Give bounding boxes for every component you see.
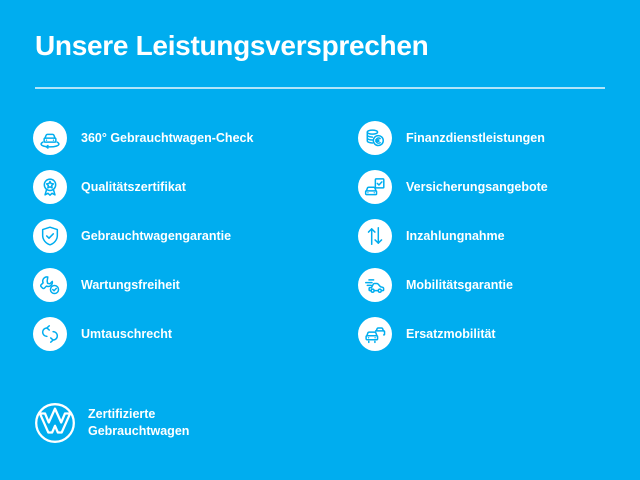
feature-label: Versicherungsangebote [406,180,548,195]
exchange-arrows-icon [33,317,67,351]
brand-line-2: Gebrauchtwagen [88,423,189,440]
feature-label: Gebrauchtwagengarantie [81,229,231,244]
two-cars-icon [358,317,392,351]
car-360-check-icon [33,121,67,155]
feature-label: Ersatzmobilität [406,327,496,342]
feature-label: Qualitätszertifikat [81,180,186,195]
feature-column-right: Finanzdienstleistungen Versicherungsange… [358,121,640,351]
arrows-up-down-icon [358,219,392,253]
feature-item-insurance-offers[interactable]: Versicherungsangebote [358,170,640,204]
feature-item-used-car-warranty[interactable]: Gebrauchtwagengarantie [33,219,333,253]
brand-line-1: Zertifizierte [88,406,189,423]
feature-label: Umtauschrecht [81,327,172,342]
page-title: Unsere Leistungsversprechen [35,30,605,62]
feature-label: Mobilitätsgarantie [406,278,513,293]
feature-item-quality-certificate[interactable]: Qualitätszertifikat [33,170,333,204]
quality-seal-icon [33,170,67,204]
feature-item-mobility-guarantee[interactable]: Mobilitätsgarantie [358,268,640,302]
coins-euro-icon [358,121,392,155]
feature-item-360-check[interactable]: 360° Gebrauchtwagen-Check [33,121,333,155]
feature-columns: 360° Gebrauchtwagen-Check Qualitätszerti… [0,121,640,351]
volkswagen-logo [34,402,76,444]
feature-column-left: 360° Gebrauchtwagen-Check Qualitätszerti… [33,121,333,351]
feature-item-replacement-mobility[interactable]: Ersatzmobilität [358,317,640,351]
title-divider [35,87,605,89]
feature-item-financial-services[interactable]: Finanzdienstleistungen [358,121,640,155]
feature-label: Finanzdienstleistungen [406,131,545,146]
promise-panel: Unsere Leistungsversprechen 360° Gebrauc… [0,0,640,480]
car-document-check-icon [358,170,392,204]
brand-lockup: Zertifizierte Gebrauchtwagen [34,402,189,444]
feature-item-trade-in[interactable]: Inzahlungnahme [358,219,640,253]
feature-item-maintenance-free[interactable]: Wartungsfreiheit [33,268,333,302]
car-motion-icon [358,268,392,302]
feature-label: 360° Gebrauchtwagen-Check [81,131,253,146]
wrench-check-icon [33,268,67,302]
feature-label: Inzahlungnahme [406,229,505,244]
brand-text: Zertifizierte Gebrauchtwagen [88,406,189,440]
feature-label: Wartungsfreiheit [81,278,180,293]
shield-check-icon [33,219,67,253]
header: Unsere Leistungsversprechen [35,30,605,62]
feature-item-exchange-right[interactable]: Umtauschrecht [33,317,333,351]
